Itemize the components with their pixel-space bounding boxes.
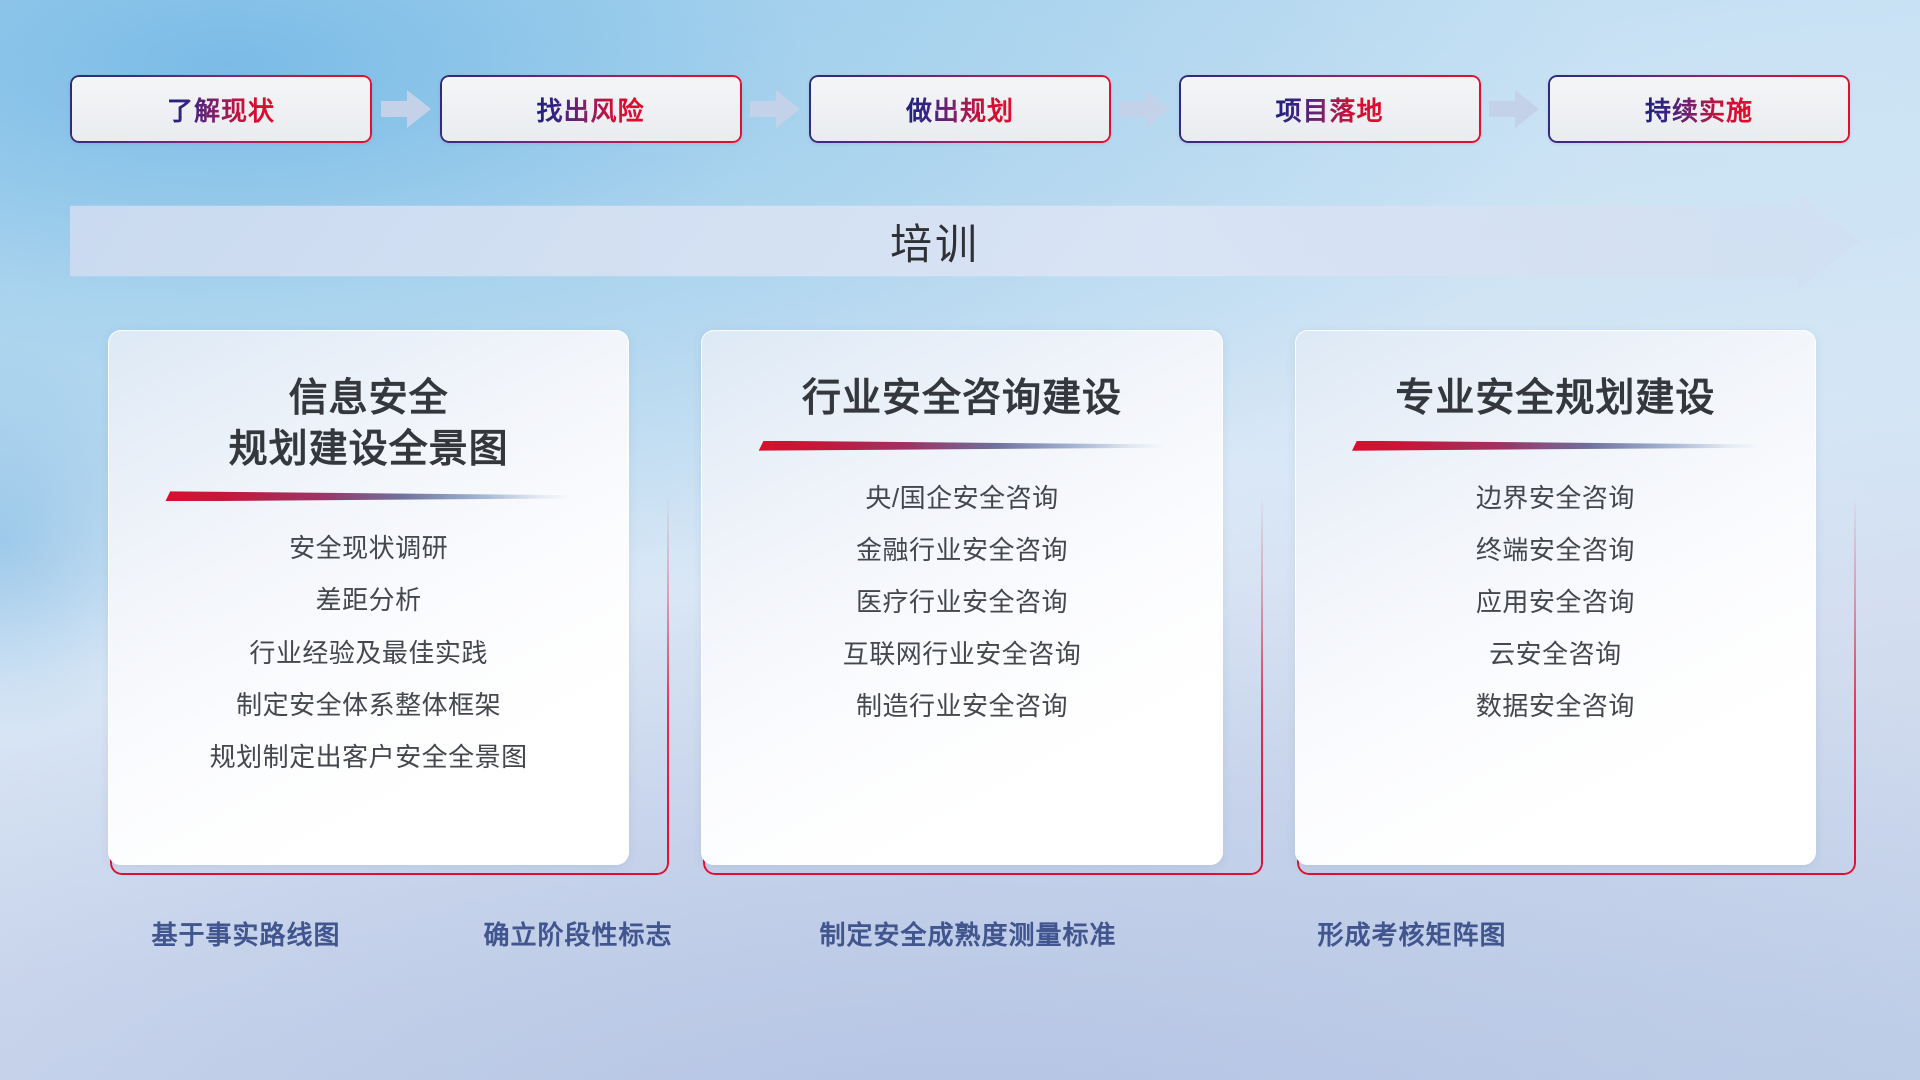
list-item: 应用安全咨询 [1476, 581, 1635, 623]
footnote-label-4: 形成考核矩阵图 [1317, 915, 1506, 952]
card-1[interactable]: 信息安全 规划建设全景图 安全现状调研 差距分析 行业经验及最佳实践 制定安全体… [108, 330, 629, 865]
step-connector-arrow-icon-2 [742, 88, 810, 130]
training-banner: 培训 [70, 192, 1860, 290]
gradient-rule-icon-2 [759, 441, 1166, 451]
card-title-3: 专业安全规划建设 [1295, 374, 1816, 425]
list-item: 云安全咨询 [1489, 633, 1622, 675]
list-item: 互联网行业安全咨询 [843, 633, 1082, 675]
step-box-2[interactable]: 找出风险 [440, 75, 742, 143]
card-list-1: 安全现状调研 差距分析 行业经验及最佳实践 制定安全体系整体框架 规划制定出客户… [108, 527, 629, 778]
step-label-4: 项目落地 [1275, 91, 1383, 128]
list-item: 医疗行业安全咨询 [856, 581, 1068, 623]
card-2[interactable]: 行业安全咨询建设 央/国企安全咨询 金融行业安全咨询 医疗行业安全咨询 互联网行… [701, 330, 1222, 865]
step-connector-arrow-icon-1 [372, 88, 440, 130]
step-box-4[interactable]: 项目落地 [1179, 75, 1481, 143]
card-list-3: 边界安全咨询 终端安全咨询 应用安全咨询 云安全咨询 数据安全咨询 [1295, 477, 1816, 728]
step-box-1[interactable]: 了解现状 [70, 75, 372, 143]
footnote-label-1: 基于事实路线图 [151, 915, 340, 952]
list-item: 央/国企安全咨询 [865, 477, 1058, 519]
card-title-2: 行业安全咨询建设 [701, 374, 1222, 425]
card-row: 信息安全 规划建设全景图 安全现状调研 差距分析 行业经验及最佳实践 制定安全体… [108, 330, 1838, 890]
step-box-3[interactable]: 做出规划 [809, 75, 1111, 143]
step-label-1: 了解现状 [167, 91, 275, 128]
step-label-5: 持续实施 [1645, 91, 1753, 128]
process-step-row: 了解现状 找出风险 做出规划 项目落地 [70, 75, 1850, 143]
step-connector-arrow-icon-3 [1111, 88, 1179, 130]
slide-canvas: 了解现状 找出风险 做出规划 项目落地 [0, 0, 1920, 1080]
footnote-label-3: 制定安全成熟度测量标准 [819, 915, 1116, 952]
card-wrapper-2: 行业安全咨询建设 央/国企安全咨询 金融行业安全咨询 医疗行业安全咨询 互联网行… [701, 330, 1244, 875]
footnote-row: 基于事实路线图 确立阶段性标志 制定安全成熟度测量标准 形成考核矩阵图 [0, 915, 1920, 963]
card-3[interactable]: 专业安全规划建设 边界安全咨询 终端安全咨询 应用安全咨询 云安全咨询 数据安全… [1295, 330, 1816, 865]
list-item: 制造行业安全咨询 [856, 685, 1068, 727]
list-item: 边界安全咨询 [1476, 477, 1635, 519]
banner-title: 培训 [70, 192, 1860, 290]
card-wrapper-1: 信息安全 规划建设全景图 安全现状调研 差距分析 行业经验及最佳实践 制定安全体… [108, 330, 651, 875]
list-item: 金融行业安全咨询 [856, 529, 1068, 571]
gradient-rule-icon-3 [1352, 441, 1759, 451]
list-item: 安全现状调研 [289, 527, 448, 569]
step-connector-arrow-icon-4 [1481, 88, 1549, 130]
step-box-5[interactable]: 持续实施 [1548, 75, 1850, 143]
card-list-2: 央/国企安全咨询 金融行业安全咨询 医疗行业安全咨询 互联网行业安全咨询 制造行… [701, 477, 1222, 728]
card-wrapper-3: 专业安全规划建设 边界安全咨询 终端安全咨询 应用安全咨询 云安全咨询 数据安全… [1295, 330, 1838, 875]
list-item: 行业经验及最佳实践 [249, 632, 488, 674]
list-item: 数据安全咨询 [1476, 685, 1635, 727]
gradient-rule-icon-1 [165, 491, 572, 501]
step-label-2: 找出风险 [536, 91, 644, 128]
list-item: 规划制定出客户安全全景图 [210, 736, 528, 778]
card-title-1: 信息安全 规划建设全景图 [108, 374, 629, 475]
list-item: 制定安全体系整体框架 [236, 684, 501, 726]
footnote-label-2: 确立阶段性标志 [483, 915, 672, 952]
list-item: 终端安全咨询 [1476, 529, 1635, 571]
list-item: 差距分析 [316, 579, 422, 621]
step-label-3: 做出规划 [906, 91, 1014, 128]
